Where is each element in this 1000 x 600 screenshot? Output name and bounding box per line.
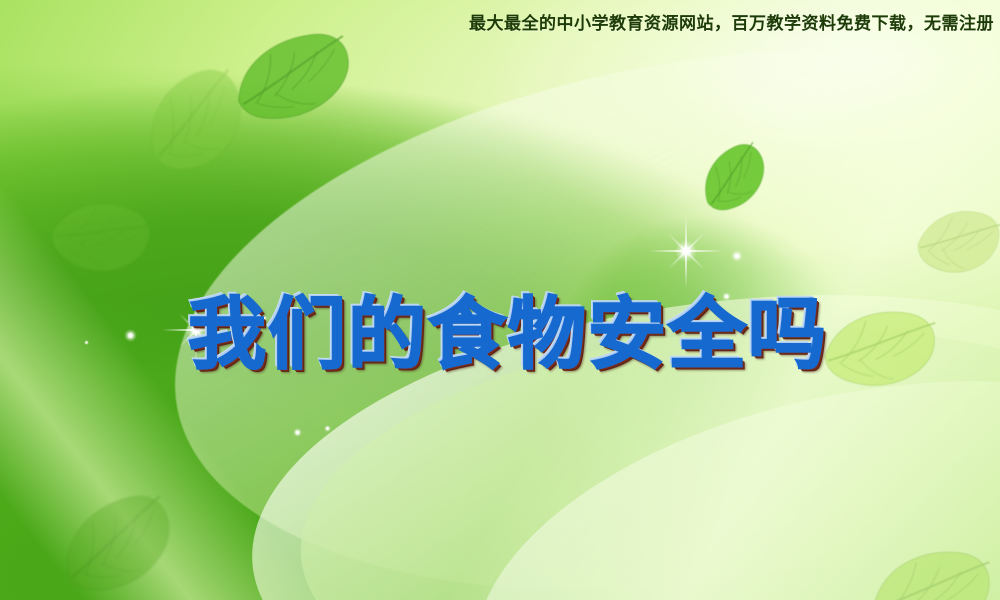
site-promo-banner-text: 最大最全的中小学教育资源网站，百万教学资料免费下载，无需注册: [469, 9, 994, 34]
title-block: 我们的食物安全吗: [188, 286, 828, 386]
presentation-slide: 最大最全的中小学教育资源网站，百万教学资料免费下载，无需注册 我们的食物安全吗: [0, 0, 1000, 600]
leaf-top-center-icon: [227, 26, 358, 128]
slide-title: 我们的食物安全吗: [188, 286, 828, 382]
leaf-right-lower-icon: [818, 299, 941, 398]
